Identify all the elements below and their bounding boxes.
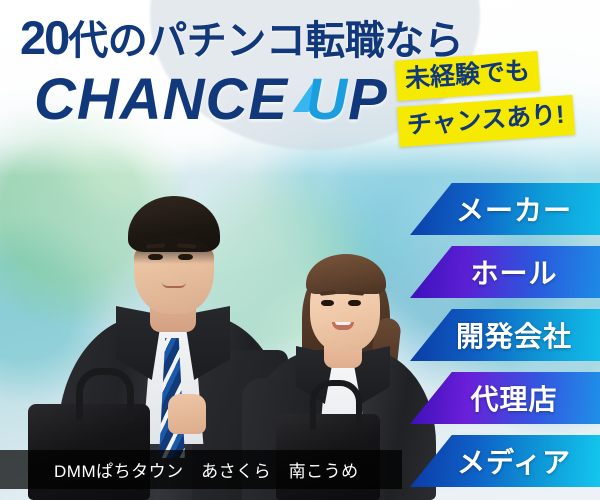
woman-eye-left (321, 300, 334, 306)
headline-age-number: 20 (20, 11, 68, 64)
man-eye-right (178, 254, 193, 260)
man-hand (168, 394, 206, 434)
woman-eye-right (348, 300, 361, 306)
headline-up-u: U (305, 71, 348, 129)
man-eye-left (148, 254, 163, 260)
headline-chance-word: CHANCE (34, 67, 288, 132)
woman-hair-front (306, 254, 386, 294)
credit-text: DMMぱちタウン あさくら 南こうめ (54, 457, 359, 482)
man-hair (128, 196, 220, 252)
headline-up-p: P (348, 67, 388, 132)
promo-badge-row-1: 未経験でも (395, 51, 540, 101)
advertisement-banner[interactable]: 20代のパチンコ転職なら CHANCE UP 未経験でも チャンスあり! メーカ… (0, 0, 600, 500)
man-mouth (162, 282, 186, 288)
headline-line-1: 20代のパチンコ転職なら (20, 14, 463, 61)
credit-bar: DMMぱちタウン あさくら 南こうめ (0, 450, 402, 489)
promo-badge: 未経験でも チャンスあり! (396, 56, 596, 141)
woman-eyebrow-right (348, 290, 364, 295)
promo-badge-row-2: チャンスあり! (397, 95, 575, 147)
